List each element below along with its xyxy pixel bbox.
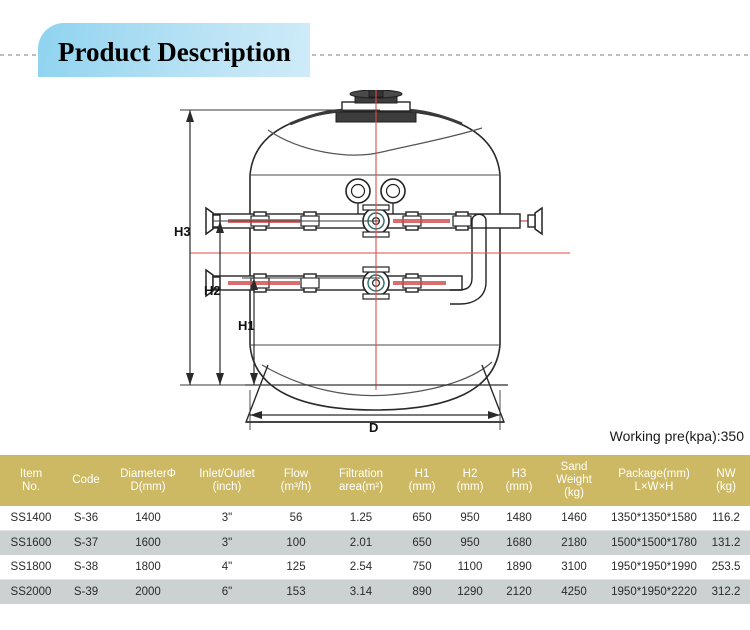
column-header-line: Weight	[545, 474, 603, 487]
table-cell: 1400	[110, 506, 186, 531]
column-header-10: Package(mm)L×W×H	[604, 455, 704, 506]
table-cell: 125	[268, 555, 324, 580]
table-cell: SS1400	[0, 506, 62, 531]
column-header-line: Filtration	[325, 468, 397, 481]
column-header-1: Code	[62, 455, 110, 506]
column-header-line: (mm)	[399, 481, 445, 494]
column-header-line: Code	[63, 474, 109, 487]
table-cell: 1950*1950*1990	[604, 555, 704, 580]
table-cell: S-39	[62, 580, 110, 605]
column-header-line: DiameterΦ	[111, 468, 185, 481]
working-pressure-note: Working pre(kpa):350	[610, 428, 744, 444]
table-row: SS1400S-3614003"561.25650950148014601350…	[0, 506, 750, 531]
column-header-line: No.	[1, 481, 61, 494]
table-cell: 950	[446, 506, 494, 531]
table-cell: S-37	[62, 531, 110, 556]
specification-table: ItemNo.CodeDiameterΦD(mm)Inlet/Outlet(in…	[0, 455, 750, 604]
table-cell: 2120	[494, 580, 544, 605]
table-cell: 3.14	[324, 580, 398, 605]
column-header-2: DiameterΦD(mm)	[110, 455, 186, 506]
column-header-line: (mm)	[447, 481, 493, 494]
table-header-row: ItemNo.CodeDiameterΦD(mm)Inlet/Outlet(in…	[0, 455, 750, 506]
column-header-line: area(m²)	[325, 481, 397, 494]
table-cell: 312.2	[704, 580, 748, 605]
column-header-9: SandWeight(kg)	[544, 455, 604, 506]
column-header-line: (kg)	[705, 481, 747, 494]
dimension-h2: H2	[204, 221, 224, 385]
product-diagram: H3 H2 H1 D	[150, 90, 600, 435]
table-cell: 116.2	[704, 506, 748, 531]
table-cell: 2180	[544, 531, 604, 556]
table-cell: 131.2	[704, 531, 748, 556]
column-header-line: L×W×H	[605, 481, 703, 494]
column-header-line: Sand	[545, 461, 603, 474]
column-header-line: D(mm)	[111, 481, 185, 494]
dimension-label-d: D	[369, 420, 378, 435]
table-cell: 1890	[494, 555, 544, 580]
dimension-label-h3: H3	[174, 224, 191, 239]
table-row: SS2000S-3920006"1533.1489012902120425019…	[0, 580, 750, 605]
table-cell: 6"	[186, 580, 268, 605]
table-cell: 1950*1950*2220	[604, 580, 704, 605]
column-header-4: Flow(m³/h)	[268, 455, 324, 506]
column-header-line: (kg)	[545, 487, 603, 500]
table-cell: S-38	[62, 555, 110, 580]
table-cell: 3"	[186, 506, 268, 531]
table-cell: 1290	[446, 580, 494, 605]
table-cell: 4"	[186, 555, 268, 580]
column-header-line: (m³/h)	[269, 481, 323, 494]
table-cell: 3"	[186, 531, 268, 556]
table-cell: 1680	[494, 531, 544, 556]
column-header-0: ItemNo.	[0, 455, 62, 506]
table-cell: 1600	[110, 531, 186, 556]
table-cell: 750	[398, 555, 446, 580]
column-header-3: Inlet/Outlet(inch)	[186, 455, 268, 506]
dimension-d: D	[250, 411, 500, 435]
table-cell: 1350*1350*1580	[604, 506, 704, 531]
column-header-8: H3(mm)	[494, 455, 544, 506]
table-cell: 1460	[544, 506, 604, 531]
dimension-label-h1: H1	[238, 318, 255, 333]
table-cell: 153	[268, 580, 324, 605]
dimension-h3: H3	[174, 110, 194, 385]
column-header-line: H2	[447, 468, 493, 481]
column-header-line: Item	[1, 468, 61, 481]
table-cell: S-36	[62, 506, 110, 531]
table-cell: 2.54	[324, 555, 398, 580]
page-title: Product Description	[58, 32, 298, 72]
column-header-line: Inlet/Outlet	[187, 468, 267, 481]
table-row: SS1600S-3716003"1002.0165095016802180150…	[0, 531, 750, 556]
column-header-line: Package(mm)	[605, 468, 703, 481]
table-cell: 2.01	[324, 531, 398, 556]
column-header-11: NW(kg)	[704, 455, 748, 506]
column-header-line: H1	[399, 468, 445, 481]
table-cell: 56	[268, 506, 324, 531]
column-header-line: NW	[705, 468, 747, 481]
table-cell: 650	[398, 531, 446, 556]
table-cell: 253.5	[704, 555, 748, 580]
table-cell: 100	[268, 531, 324, 556]
dimension-label-h2: H2	[204, 283, 221, 298]
table-cell: 4250	[544, 580, 604, 605]
table-row: SS1800S-3818004"1252.5475011001890310019…	[0, 555, 750, 580]
table-cell: 3100	[544, 555, 604, 580]
dimension-h1: H1	[238, 278, 258, 385]
table-cell: SS1600	[0, 531, 62, 556]
table-cell: 1800	[110, 555, 186, 580]
table-cell: 890	[398, 580, 446, 605]
table-cell: 950	[446, 531, 494, 556]
column-header-6: H1(mm)	[398, 455, 446, 506]
column-header-5: Filtrationarea(m²)	[324, 455, 398, 506]
table-cell: 1100	[446, 555, 494, 580]
column-header-line: (inch)	[187, 481, 267, 494]
table-cell: SS1800	[0, 555, 62, 580]
table-cell: 1.25	[324, 506, 398, 531]
lower-pipe-run	[206, 267, 462, 299]
table-cell: 2000	[110, 580, 186, 605]
table-cell: 1500*1500*1780	[604, 531, 704, 556]
column-header-7: H2(mm)	[446, 455, 494, 506]
column-header-line: (mm)	[495, 481, 543, 494]
table-cell: 650	[398, 506, 446, 531]
table-cell: 1480	[494, 506, 544, 531]
column-header-line: H3	[495, 468, 543, 481]
page-header: Product Description	[0, 0, 750, 100]
table-cell: SS2000	[0, 580, 62, 605]
column-header-line: Flow	[269, 468, 323, 481]
